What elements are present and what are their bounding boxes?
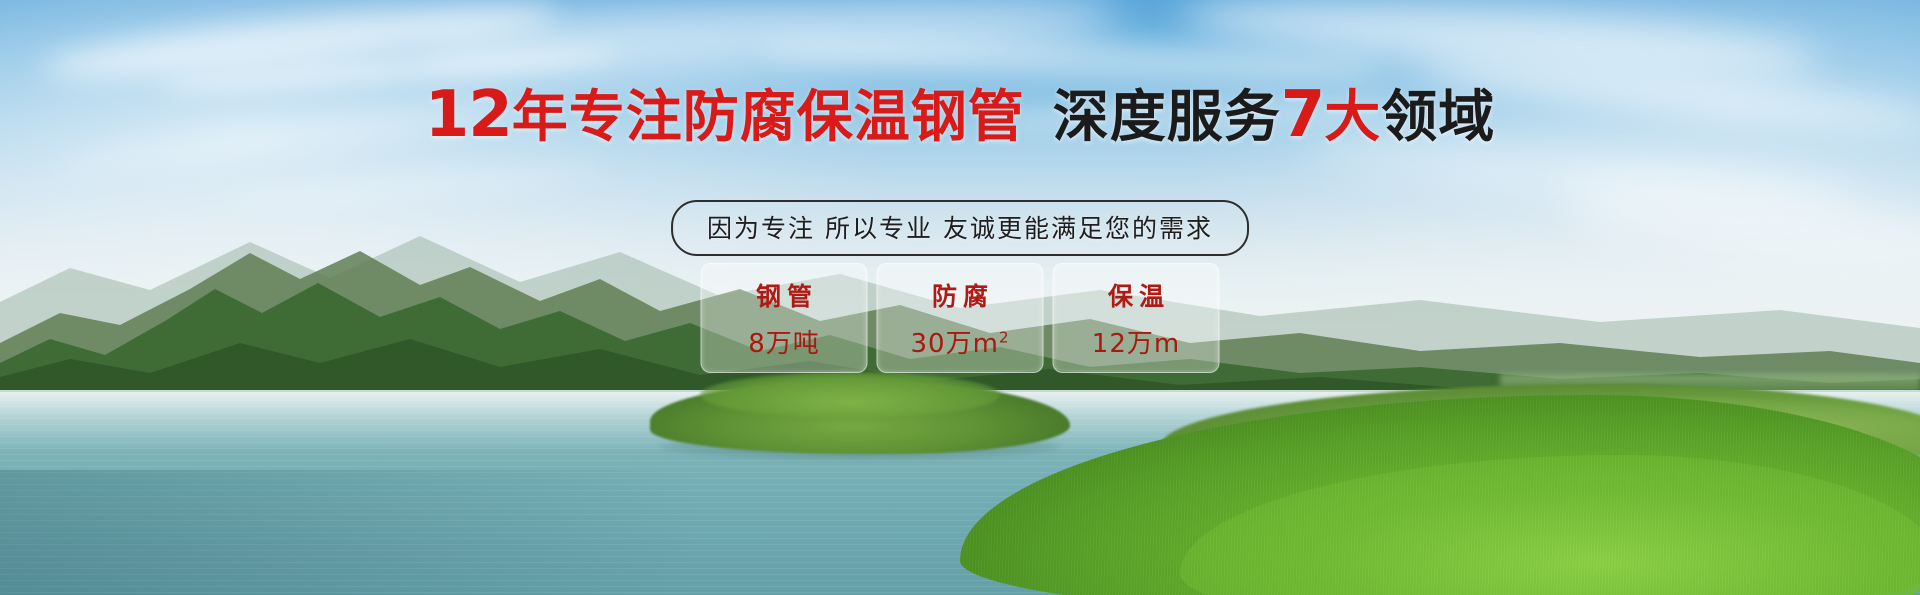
- banner-content: 12年专注防腐保温钢管深度服务7大领域 因为专注 所以专业 友诚更能满足您的需求…: [0, 0, 1920, 595]
- headline-years-unit: 年专注防腐保温钢管: [512, 85, 1025, 150]
- stat-label: 保温: [1102, 277, 1170, 313]
- stat-card-steel-pipe[interactable]: 钢管 8万吨: [701, 263, 868, 373]
- stat-value-superscript: 2: [999, 328, 1010, 346]
- stat-value: 30万m2: [911, 323, 1010, 360]
- subtitle-pill: 因为专注 所以专业 友诚更能满足您的需求: [671, 200, 1249, 256]
- stat-value-text: 30万m: [911, 329, 999, 359]
- stat-value: 8万吨: [748, 323, 820, 360]
- stat-value-text: 12万m: [1092, 329, 1180, 359]
- stat-label: 钢管: [750, 277, 818, 313]
- headline-years-number: 12: [425, 78, 512, 152]
- headline-fields-text: 领域: [1381, 85, 1495, 150]
- stat-value-text: 8万吨: [748, 329, 820, 359]
- stat-card-anticorrosion[interactable]: 防腐 30万m2: [877, 263, 1044, 373]
- stat-value: 12万m: [1092, 323, 1180, 360]
- stat-card-list: 钢管 8万吨 防腐 30万m2 保温 12万m: [701, 263, 1220, 373]
- stat-card-insulation[interactable]: 保温 12万m: [1053, 263, 1220, 373]
- headline: 12年专注防腐保温钢管深度服务7大领域: [0, 83, 1920, 147]
- stat-label: 防腐: [926, 277, 994, 313]
- hero-banner: 12年专注防腐保温钢管深度服务7大领域 因为专注 所以专业 友诚更能满足您的需求…: [0, 0, 1920, 595]
- headline-service-text: 深度服务: [1053, 85, 1281, 150]
- headline-fields-number: 7: [1281, 78, 1325, 152]
- headline-fields-measure: 大: [1324, 85, 1381, 150]
